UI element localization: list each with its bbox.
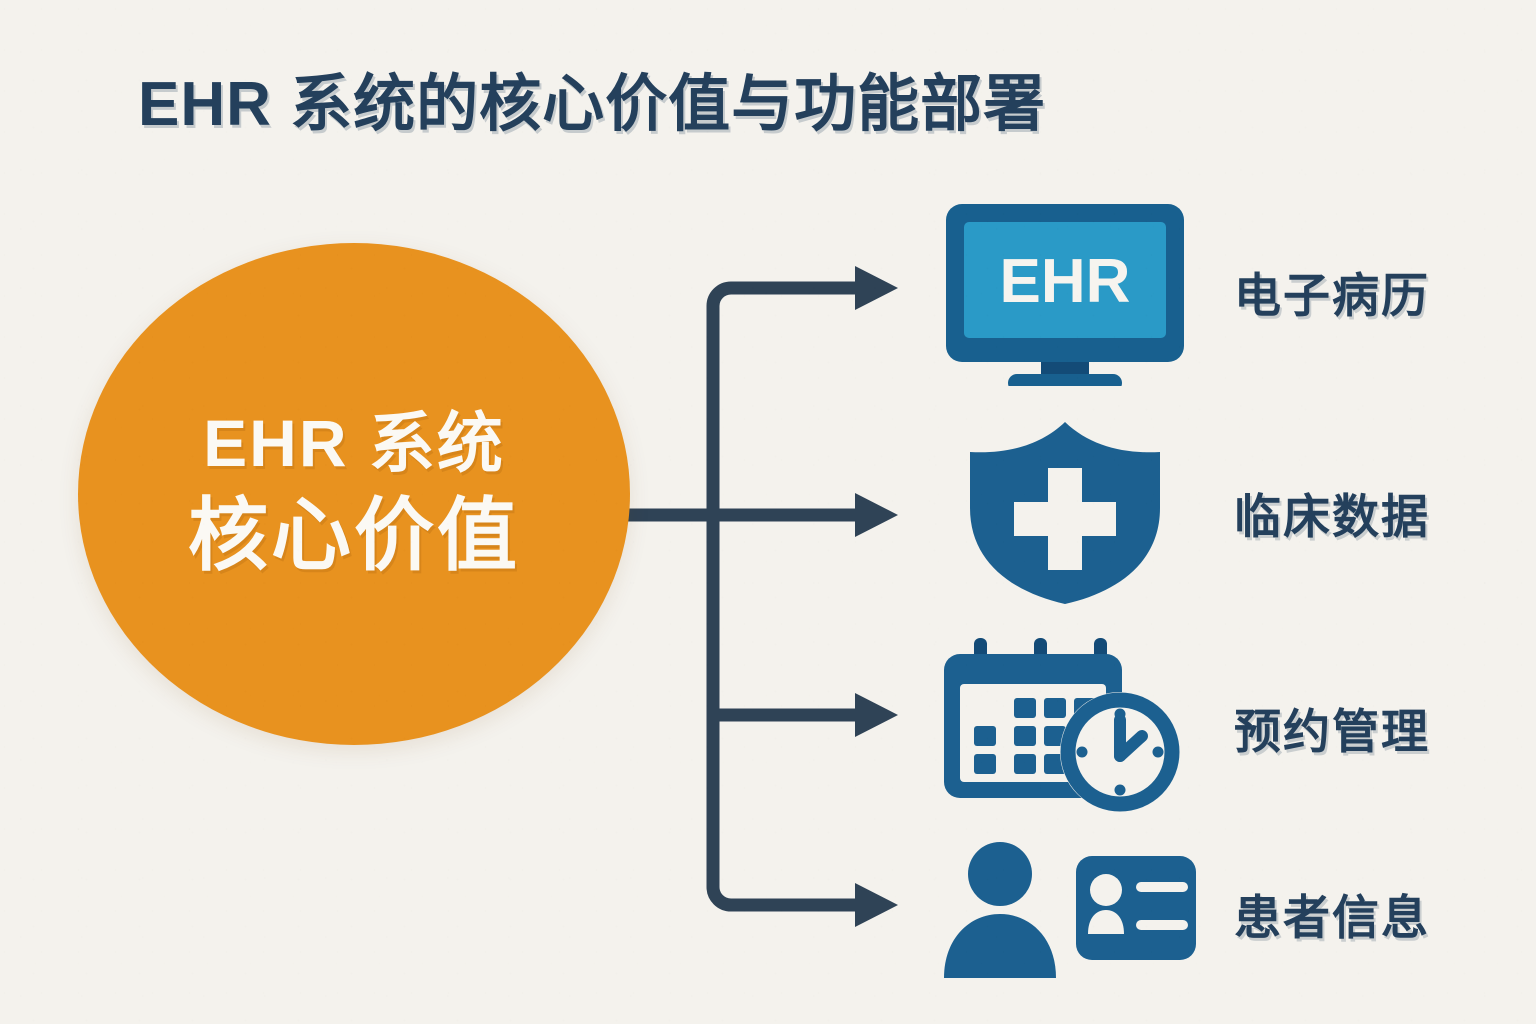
monitor-ehr-icon-box: EHR [930, 196, 1200, 386]
node-label-electronic-medical-record: 电子病历 [1234, 257, 1430, 326]
monitor-screen-text: EHR [1000, 247, 1131, 316]
arrowhead-1 [855, 266, 898, 310]
node-label-appointment-management: 预约管理 [1234, 693, 1430, 762]
shield-cross-icon [930, 412, 1200, 612]
connector-trunk [713, 288, 745, 905]
calendar-clock-icon [930, 632, 1200, 822]
shield-cross-icon-box [930, 412, 1200, 612]
node-electronic-medical-record[interactable]: EHR 电子病历 [930, 196, 1430, 386]
hub-title-line-2: 核心价值 [188, 489, 520, 583]
node-patient-information[interactable]: 患者信息 [930, 838, 1430, 988]
monitor-ehr-icon: EHR [930, 196, 1200, 386]
node-clinical-data[interactable]: 临床数据 [930, 412, 1430, 612]
hub-title-line-1: EHR 系统 [203, 405, 505, 483]
arrowhead-2 [855, 493, 898, 537]
patient-id-card-icon-box [930, 838, 1200, 988]
node-label-clinical-data: 临床数据 [1234, 478, 1430, 547]
arrowhead-3 [855, 693, 898, 737]
patient-id-card-icon [930, 838, 1200, 988]
node-label-patient-information: 患者信息 [1234, 879, 1430, 948]
arrowhead-4 [855, 883, 898, 927]
node-appointment-management[interactable]: 预约管理 [930, 632, 1430, 822]
calendar-clock-icon-box [930, 632, 1200, 822]
central-hub-circle[interactable]: EHR 系统 核心价值 [78, 243, 630, 745]
